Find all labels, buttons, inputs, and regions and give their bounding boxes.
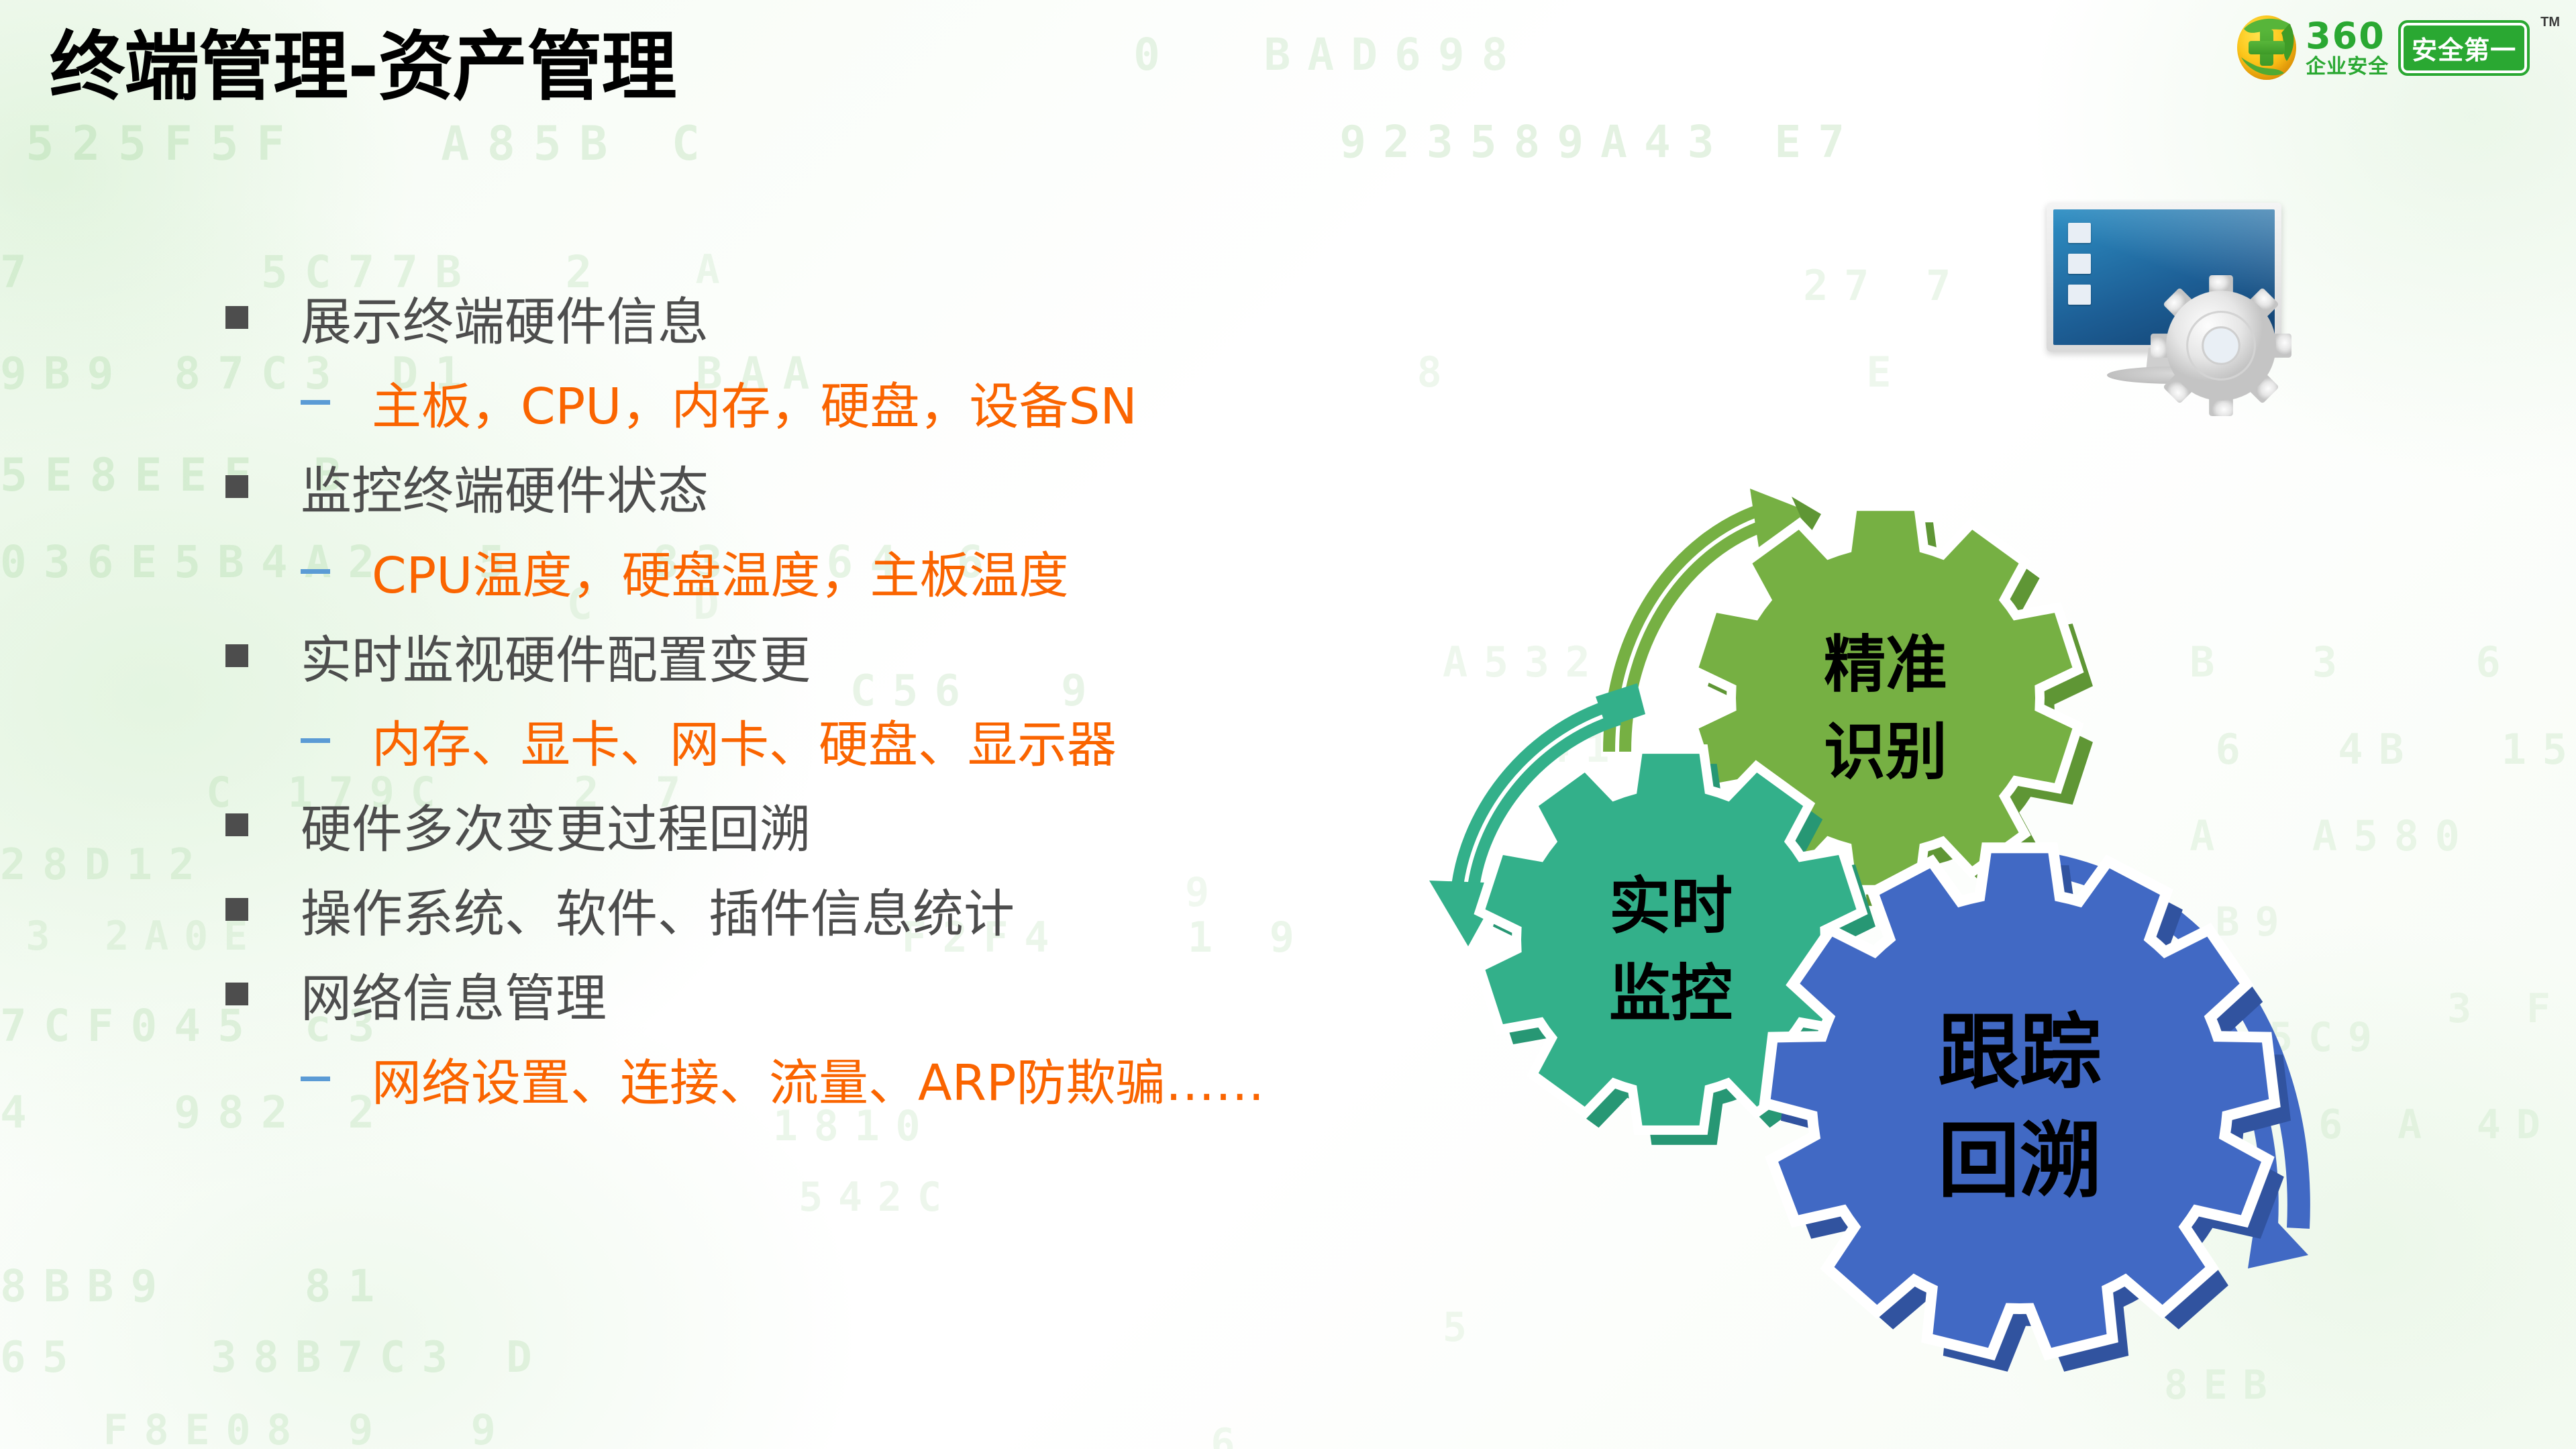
hex-text: F8E08 9 9 — [103, 1405, 512, 1449]
desktop-icon — [2068, 254, 2091, 274]
hex-text: 8BB9 81 — [0, 1260, 391, 1312]
hex-text: 3 F — [2447, 985, 2566, 1032]
hex-text: 525F5F A85B C — [25, 116, 717, 171]
hex-text: 6 — [1210, 1420, 1250, 1449]
gear-blue-line2: 回溯 — [1938, 1112, 2102, 1209]
bullet-dash-icon — [301, 1077, 330, 1081]
gear-green-line2: 识别 — [1824, 715, 1947, 788]
hex-text: 8EB — [2164, 1362, 2283, 1409]
bullet-square-icon — [225, 813, 248, 836]
brand-logo: 360 企业安全 安全第一 TM — [2237, 15, 2560, 81]
gear-diagram: 精准 识别 实时 监控 — [1416, 430, 2369, 1315]
bullet-item: 监控终端硬件状态 — [221, 444, 1496, 529]
bullet-label: 操作系统、软件、插件信息统计 — [301, 872, 1015, 946]
logo-sub-text: 企业安全 — [2306, 57, 2389, 77]
bullet-square-icon — [225, 983, 248, 1005]
sub-bullet-item: 网络设置、连接、流量、ARP防欺骗…… — [221, 1036, 1496, 1121]
plus-horizontal — [2249, 41, 2285, 54]
page-title: 终端管理-资产管理 — [50, 24, 676, 111]
hex-text: 65 38B7C3 D — [0, 1333, 548, 1383]
bullet-item: 展示终端硬件信息 — [221, 275, 1496, 360]
bullet-label: 硬件多次变更过程回溯 — [301, 788, 811, 862]
bullet-dash-icon — [301, 400, 330, 405]
gear-blue-line1: 跟踪 — [1938, 1003, 2102, 1100]
bullet-list: 展示终端硬件信息主板，CPU，内存，硬盘，设备SN监控终端硬件状态CPU温度，硬… — [221, 275, 1496, 1121]
slide-canvas: 525F5F A85B CC D0 BAD698923589A43 E77 5C… — [0, 0, 2576, 1449]
sub-bullet-label: 主板，CPU，内存，硬盘，设备SN — [372, 366, 1137, 438]
sub-bullet-item: 主板，CPU，内存，硬盘，设备SN — [221, 360, 1496, 444]
gear-teal-line2: 监控 — [1609, 957, 1733, 1030]
settings-gear-icon — [2151, 275, 2291, 416]
hex-text: 923589A43 E7 — [1339, 116, 1861, 168]
desktop-icon — [2068, 223, 2091, 243]
hex-text: 28D12 — [0, 840, 211, 890]
sub-bullet-item: 内存、显卡、网卡、硬盘、显示器 — [221, 698, 1496, 783]
hex-text: 27 7 — [1803, 261, 1967, 310]
360-shield-icon — [2237, 15, 2296, 80]
sub-bullet-item: CPU温度，硬盘温度，主板温度 — [221, 529, 1496, 613]
desktop-icon — [2068, 285, 2091, 305]
bullet-label: 展示终端硬件信息 — [301, 281, 709, 354]
monitor-with-gear-icon — [2020, 195, 2335, 416]
bullet-item: 操作系统、软件、插件信息统计 — [221, 867, 1496, 952]
safety-first-badge: 安全第一 — [2398, 20, 2530, 76]
bullet-square-icon — [225, 306, 248, 329]
bullet-dash-icon — [301, 738, 330, 743]
bullet-label: 实时监视硬件配置变更 — [301, 619, 811, 693]
hex-text: 0 BAD698 — [1133, 29, 1525, 81]
bullet-dash-icon — [301, 569, 330, 574]
sub-bullet-label: 网络设置、连接、流量、ARP防欺骗…… — [372, 1043, 1265, 1115]
logo-wordmark: 360 企业安全 — [2306, 18, 2389, 77]
hex-text: 542C — [798, 1174, 957, 1221]
trademark-mark: TM — [2540, 15, 2560, 30]
bullet-label: 监控终端硬件状态 — [301, 450, 709, 523]
sub-bullet-label: 内存、显卡、网卡、硬盘、显示器 — [372, 705, 1117, 777]
bullet-item: 网络信息管理 — [221, 952, 1496, 1036]
bullet-item: 硬件多次变更过程回溯 — [221, 783, 1496, 867]
bullet-label: 网络信息管理 — [301, 957, 607, 1031]
sub-bullet-label: CPU温度，硬盘温度，主板温度 — [372, 536, 1068, 607]
bullet-square-icon — [225, 475, 248, 498]
gear-green-line1: 精准 — [1824, 628, 1947, 701]
gear-teal-line1: 实时 — [1609, 870, 1733, 942]
bullet-square-icon — [225, 644, 248, 667]
bullet-item: 实时监视硬件配置变更 — [221, 613, 1496, 698]
bullet-square-icon — [225, 898, 248, 921]
logo-brand-text: 360 — [2306, 18, 2389, 54]
